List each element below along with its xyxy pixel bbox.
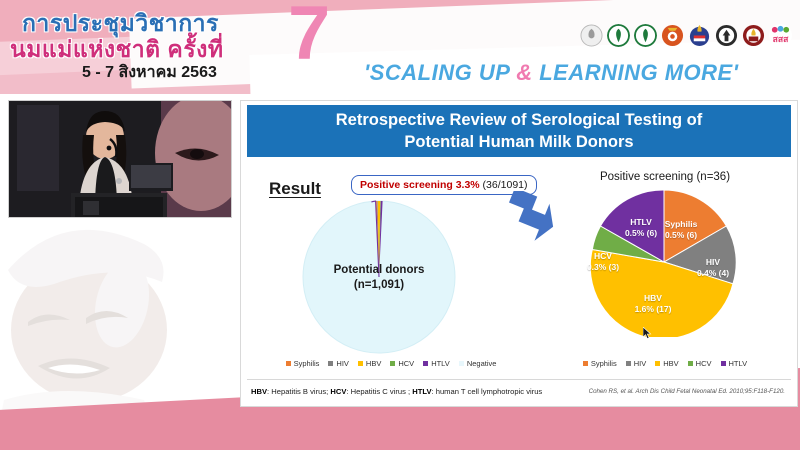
callout-percentage: Positive screening 3.3% bbox=[360, 179, 480, 191]
pie-label-hbv-name: HBV bbox=[635, 293, 672, 304]
pie-label-htlv: HTLV 0.5% (6) bbox=[625, 217, 657, 239]
slide-footnote-bar: HBV: Hepatitis B virus; HCV: Hepatitis C… bbox=[247, 379, 791, 402]
tagline-part-1: 'SCALING UP bbox=[364, 60, 516, 85]
logo-crown-emblem-icon bbox=[688, 24, 711, 47]
legend-label-negative: Negative bbox=[467, 359, 497, 368]
logo-black-seal-icon bbox=[715, 24, 738, 47]
baby-watermark-image bbox=[0, 200, 234, 430]
legend-swatch-negative bbox=[459, 361, 464, 366]
pie-label-hcv: HCV 0.3% (3) bbox=[587, 251, 619, 273]
legend-swatch-syphilis bbox=[286, 361, 291, 366]
legend-swatch-htlv bbox=[423, 361, 428, 366]
slide-presentation-screenshot: 7 การประชุมวิชาการ นมแม่แห่งชาติ ครั้งที… bbox=[0, 0, 800, 450]
tagline-part-2: LEARNING MORE' bbox=[533, 60, 739, 85]
legend-label-syphilis: Syphilis bbox=[294, 359, 320, 368]
legend-r-item-hbv: HBV bbox=[655, 359, 678, 368]
edition-number: 7 bbox=[288, 0, 330, 72]
footnote-htlv-val: : human T cell lymphotropic virus bbox=[432, 387, 543, 396]
legend-item-hcv: HCV bbox=[390, 359, 414, 368]
legend-item-negative: Negative bbox=[459, 359, 497, 368]
logo-royal-emblem-icon bbox=[580, 24, 603, 47]
legend-label-hbv: HBV bbox=[366, 359, 381, 368]
pie-label-htlv-value: 0.5% (6) bbox=[625, 228, 657, 239]
left-pie-label-line1: Potential donors bbox=[259, 263, 499, 278]
footnote-hcv-val: : Hepatitis C virus ; bbox=[346, 387, 412, 396]
legend-r-item-syphilis: Syphilis bbox=[583, 359, 617, 368]
logo-green-health-1-icon bbox=[607, 24, 630, 47]
legend-swatch-hcv bbox=[390, 361, 395, 366]
legend-r-item-htlv: HTLV bbox=[721, 359, 748, 368]
right-chart-legend: Syphilis HIV HBV HCV HTLV bbox=[541, 359, 789, 368]
pie-label-hiv-value: 0.4% (4) bbox=[697, 268, 729, 279]
legend-item-syphilis: Syphilis bbox=[286, 359, 320, 368]
logo-thaihealth-sss-icon: สสส bbox=[769, 24, 792, 47]
left-pie-center-label: Potential donors (n=1,091) bbox=[259, 263, 499, 293]
legend-label-hiv: HIV bbox=[336, 359, 349, 368]
speaker-video-feed[interactable] bbox=[8, 100, 232, 218]
presentation-slide: Retrospective Review of Serological Test… bbox=[240, 100, 798, 407]
sponsor-logos-row: สสส bbox=[580, 24, 792, 47]
logo-dark-red-seal-icon bbox=[742, 24, 765, 47]
legend-label-htlv: HTLV bbox=[431, 359, 450, 368]
pie-label-syphilis-name: Syphilis bbox=[665, 219, 698, 230]
right-pie-title: Positive screening (n=36) bbox=[541, 171, 789, 183]
legend-item-hbv: HBV bbox=[358, 359, 381, 368]
callout-fraction: (36/1091) bbox=[480, 179, 528, 191]
pie-label-hcv-name: HCV bbox=[587, 251, 619, 262]
footnote-hbv-key: HBV bbox=[251, 387, 267, 396]
pie-label-hbv-value: 1.6% (17) bbox=[635, 304, 672, 315]
slide-title-line2: Potential Human Milk Donors bbox=[404, 131, 633, 153]
result-heading: Result bbox=[269, 179, 321, 199]
legend-r-swatch-hiv bbox=[626, 361, 631, 366]
tagline-ampersand: & bbox=[516, 60, 532, 85]
legend-r-swatch-hcv bbox=[688, 361, 693, 366]
slide-citation: Cohen RS, et al. Arch Dis Child Fetal Ne… bbox=[589, 388, 785, 395]
pie-label-syphilis-value: 0.5% (6) bbox=[665, 230, 698, 241]
legend-r-swatch-syphilis bbox=[583, 361, 588, 366]
footnote-hcv-key: HCV bbox=[330, 387, 346, 396]
legend-r-item-hiv: HIV bbox=[626, 359, 647, 368]
conference-tagline: 'SCALING UP & LEARNING MORE' bbox=[364, 60, 738, 86]
pie-label-hiv: HIV 0.4% (4) bbox=[697, 257, 729, 279]
logo-green-health-2-icon bbox=[634, 24, 657, 47]
left-pie-chart: Potential donors (n=1,091) bbox=[259, 197, 527, 383]
pie-label-hcv-value: 0.3% (3) bbox=[587, 262, 619, 273]
legend-label-hcv: HCV bbox=[398, 359, 414, 368]
legend-r-swatch-hbv bbox=[655, 361, 660, 366]
legend-r-label-hcv: HCV bbox=[696, 359, 712, 368]
legend-swatch-hbv bbox=[358, 361, 363, 366]
conference-header-banner: 7 การประชุมวิชาการ นมแม่แห่งชาติ ครั้งที… bbox=[0, 0, 800, 94]
pie-label-syphilis: Syphilis 0.5% (6) bbox=[665, 219, 698, 241]
right-pie-chart: Positive screening (n=36) Syphilis 0.5% … bbox=[541, 171, 789, 383]
svg-text:สสส: สสส bbox=[773, 34, 790, 44]
logo-ministry-orange-icon bbox=[661, 24, 684, 47]
legend-swatch-hiv bbox=[328, 361, 333, 366]
legend-r-label-syphilis: Syphilis bbox=[591, 359, 617, 368]
footnote-htlv-key: HTLV bbox=[412, 387, 431, 396]
legend-r-label-hbv: HBV bbox=[663, 359, 678, 368]
pie-label-hiv-name: HIV bbox=[697, 257, 729, 268]
left-chart-legend: Syphilis HIV HBV HCV HTLV Negative bbox=[255, 359, 527, 368]
left-pie-label-line2: (n=1,091) bbox=[259, 278, 499, 293]
slide-title-line1: Retrospective Review of Serological Test… bbox=[336, 109, 702, 131]
legend-r-item-hcv: HCV bbox=[688, 359, 712, 368]
legend-r-swatch-htlv bbox=[721, 361, 726, 366]
slide-title: Retrospective Review of Serological Test… bbox=[247, 105, 791, 157]
footnote-hbv-val: : Hepatitis B virus; bbox=[267, 387, 330, 396]
legend-r-label-htlv: HTLV bbox=[729, 359, 748, 368]
legend-item-htlv: HTLV bbox=[423, 359, 450, 368]
abbreviation-footnote: HBV: Hepatitis B virus; HCV: Hepatitis C… bbox=[247, 387, 542, 396]
mouse-cursor-icon bbox=[643, 327, 652, 340]
legend-item-hiv: HIV bbox=[328, 359, 349, 368]
pie-label-hbv: HBV 1.6% (17) bbox=[635, 293, 672, 315]
conference-date-thai: 5 - 7 สิงหาคม 2563 bbox=[82, 60, 217, 85]
legend-r-label-hiv: HIV bbox=[634, 359, 647, 368]
speaker-video-frame bbox=[9, 101, 231, 217]
pie-label-htlv-name: HTLV bbox=[625, 217, 657, 228]
